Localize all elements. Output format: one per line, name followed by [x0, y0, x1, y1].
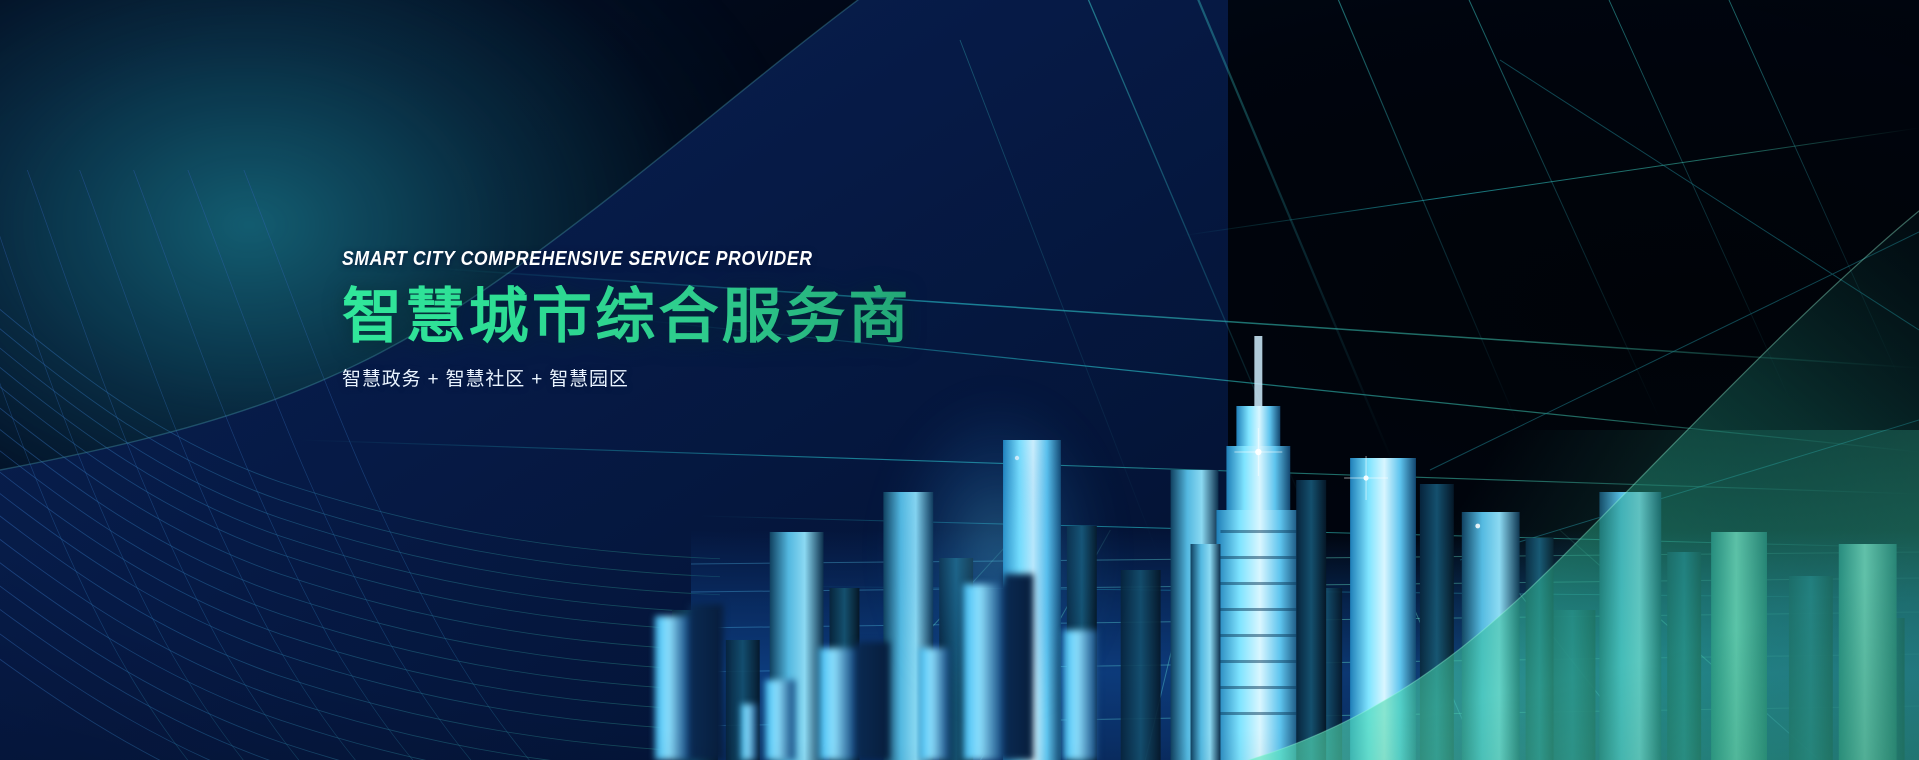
hero-eyebrow: SMART CITY COMPREHENSIVE SERVICE PROVIDE… — [342, 248, 1011, 271]
hero-subline: 智慧政务 + 智慧社区 + 智慧园区 — [342, 364, 1102, 391]
hero-copy-block: SMART CITY COMPREHENSIVE SERVICE PROVIDE… — [342, 248, 1102, 391]
hero-banner: SMART CITY COMPREHENSIVE SERVICE PROVIDE… — [0, 0, 1919, 760]
hero-headline: 智慧城市综合服务商 — [342, 285, 1102, 350]
decor-wave-green — [998, 61, 1919, 760]
